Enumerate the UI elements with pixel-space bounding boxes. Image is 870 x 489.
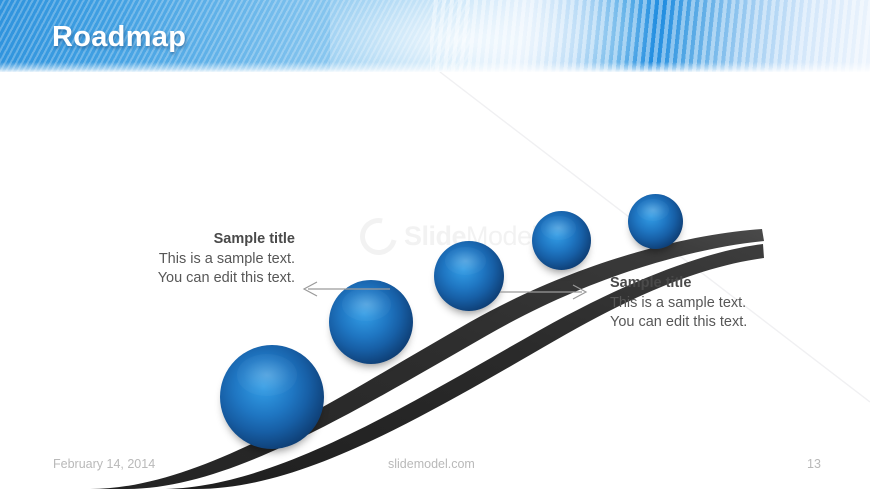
callout-left-line-2: You can edit this text. xyxy=(95,269,295,288)
slide-canvas: Roadmap SlideModel .com xyxy=(0,0,870,489)
callout-right: Sample title This is a sample text. You … xyxy=(610,274,840,332)
page-title: Roadmap xyxy=(52,21,186,54)
callout-left: Sample title This is a sample text. You … xyxy=(95,230,295,288)
footer-page-number: 13 xyxy=(807,457,821,471)
footer-site-label: slidemodel.com xyxy=(388,457,475,471)
arrow-left xyxy=(298,278,390,300)
arrow-right xyxy=(500,281,592,303)
callout-right-line-1: This is a sample text. xyxy=(610,294,840,313)
milestone-sphere-4[interactable] xyxy=(532,211,591,270)
footer-date: February 14, 2014 xyxy=(53,457,155,471)
header-bottom-fade xyxy=(0,62,870,72)
milestone-sphere-5[interactable] xyxy=(628,194,683,249)
milestone-sphere-3[interactable] xyxy=(434,241,504,311)
callout-left-line-1: This is a sample text. xyxy=(95,250,295,269)
callout-left-title: Sample title xyxy=(95,230,295,249)
callout-right-title: Sample title xyxy=(610,274,840,293)
callout-right-line-2: You can edit this text. xyxy=(610,313,840,332)
milestone-sphere-1[interactable] xyxy=(220,345,324,449)
